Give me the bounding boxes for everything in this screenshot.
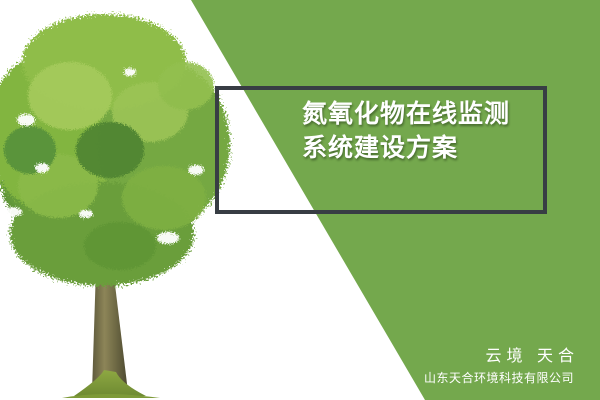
brand-name: 云境 天合 — [424, 346, 579, 368]
presentation-cover-slide: 氮氧化物在线监测 系统建设方案 云境 天合 山东天合环境科技有限公司 — [0, 0, 600, 400]
brand-block: 云境 天合 山东天合环境科技有限公司 — [424, 346, 574, 388]
title-line-2: 系统建设方案 — [302, 131, 552, 165]
page-title: 氮氧化物在线监测 系统建设方案 — [302, 97, 552, 165]
brand-company: 山东天合环境科技有限公司 — [424, 368, 574, 388]
title-line-1: 氮氧化物在线监测 — [302, 97, 552, 131]
